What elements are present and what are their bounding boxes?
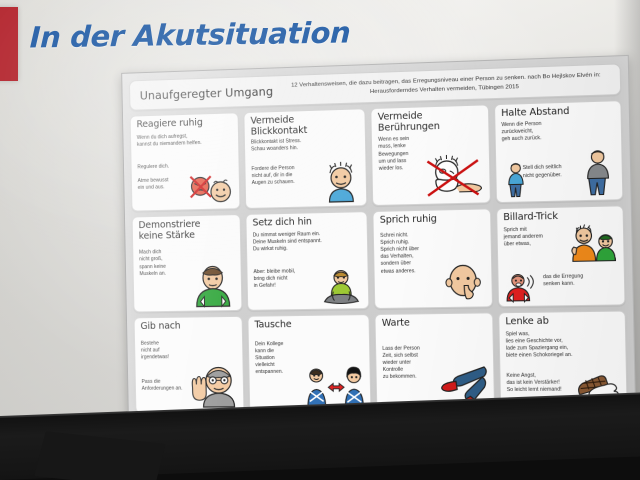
card-text-secondary: Keine Angst, das ist kein Verstärker! So… xyxy=(506,372,577,395)
card-text-secondary: Regulere dich. Atme bewusst ein und aus. xyxy=(137,163,188,193)
card-text-primary: Du nimmst weniger Raum ein. Deine Muskel… xyxy=(253,230,362,254)
card-vermeide-beruehrungen: Vermeide Berührungen Wenn es sein muss, … xyxy=(371,104,491,206)
card-title: Warte xyxy=(382,317,487,329)
card-halte-abstand: Halte Abstand Wenn die Person zurückweic… xyxy=(494,100,624,203)
card-billard-trick: Billard-Trick Sprich mit jemand anderem … xyxy=(496,205,626,307)
two-people-distance-icon-second xyxy=(582,148,614,195)
person-raised-hand-icon xyxy=(186,365,237,407)
card-text-primary: Wenn du dich aufregst, kannst du niemand… xyxy=(137,133,207,149)
card-title: Vermeide Berührungen xyxy=(378,110,483,134)
card-title: Billard-Trick xyxy=(503,211,617,224)
photo-of-screen: In der Akutsituation Unaufgeregter Umgan… xyxy=(0,0,640,480)
angry-face-crossed-calm-face-icon xyxy=(186,171,235,204)
card-text-primary: Dein Kollege kann die Situation vielleic… xyxy=(255,340,304,376)
card-title: Vermeide Blickkontakt xyxy=(250,113,360,137)
card-text-primary: Bestehe nicht auf irgendetwas! xyxy=(141,340,184,362)
card-grid: Reagiere ruhig Wenn du dich aufregst, ka… xyxy=(130,100,628,413)
card-text-primary: Sprich mit jemand anderem über etwas, xyxy=(503,225,574,248)
card-demonstriere-keine-staerke: Demonstriere keine Stärke Mach dich nich… xyxy=(132,214,243,312)
card-title: Halte Abstand xyxy=(501,105,615,119)
two-people-distance-icon xyxy=(504,161,527,196)
card-text-primary: Spiel was, lies eine Geschichte vor, lad… xyxy=(506,330,620,361)
card-text-primary: Wenn es sein muss, lenke Bewegungen um u… xyxy=(378,136,423,173)
two-people-talking-icon xyxy=(566,225,618,261)
card-text-primary: Blickkontakt ist Stress. Schau woanders … xyxy=(251,137,356,154)
card-sprich-ruhig: Sprich ruhig Schrei nicht. Sprich ruhig.… xyxy=(373,208,493,309)
card-title: Reagiere ruhig xyxy=(136,117,233,130)
card-title: Gib nach xyxy=(140,321,237,333)
card-title: Lenke ab xyxy=(505,316,620,328)
card-text-secondary: Fordere die Person nicht auf, dir in die… xyxy=(251,164,321,187)
touch-crossed-out-icon xyxy=(421,156,484,198)
finger-on-lips-icon xyxy=(443,264,484,301)
card-reagiere-ruhig: Reagiere ruhig Wenn du dich aufregst, ka… xyxy=(130,112,241,211)
card-title: Setz dich hin xyxy=(252,216,362,229)
card-tausche: Tausche Dein Kollege kann die Situation … xyxy=(247,314,371,413)
card-title: Tausche xyxy=(254,319,364,331)
person-looking-away-icon xyxy=(323,163,359,202)
card-text-primary: Lass der Person Zeit, sich selbst wieder… xyxy=(382,345,441,382)
shouting-red-person-icon xyxy=(504,273,539,302)
card-setz-dich-hin: Setz dich hin Du nimmst weniger Raum ein… xyxy=(245,211,369,311)
card-title: Sprich ruhig xyxy=(380,213,485,226)
card-title: Demonstriere keine Stärke xyxy=(138,219,235,242)
card-text-primary: Wenn die Person zurückweicht, geh auch z… xyxy=(501,119,577,143)
card-text-secondary: das die Erregung senken kann. xyxy=(543,273,614,289)
person-sitting-cross-legged-icon xyxy=(320,269,362,304)
person-green-shirt-relaxed-icon xyxy=(193,265,233,307)
card-text-secondary: Aber: bleibe mobil, bring dich nicht in … xyxy=(253,268,314,291)
card-gib-nach: Gib nach Bestehe nicht auf irgendetwas! … xyxy=(134,316,245,414)
card-warte: Warte Lass der Person Zeit, sich selbst … xyxy=(375,312,495,412)
card-text-primary: Schrei nicht. Sprich ruhig. Sprich nicht… xyxy=(380,231,450,276)
poster: Unaufgeregter Umgang 12 Verhaltensweisen… xyxy=(121,55,636,421)
poster-header-title: Unaufgeregter Umgang xyxy=(140,84,274,102)
card-text-primary: Mach dich nicht groß, spann keine Muskel… xyxy=(139,249,186,278)
two-people-swap-arrow-icon xyxy=(305,367,365,407)
card-vermeide-blickkontakt: Vermeide Blickkontakt Blickkontakt ist S… xyxy=(243,108,367,209)
red-accent-block xyxy=(0,7,18,81)
page-title: In der Akutsituation xyxy=(29,15,351,54)
poster-header-subtitle: 12 Verhaltensweisen, die dazu beitragen,… xyxy=(283,71,610,99)
